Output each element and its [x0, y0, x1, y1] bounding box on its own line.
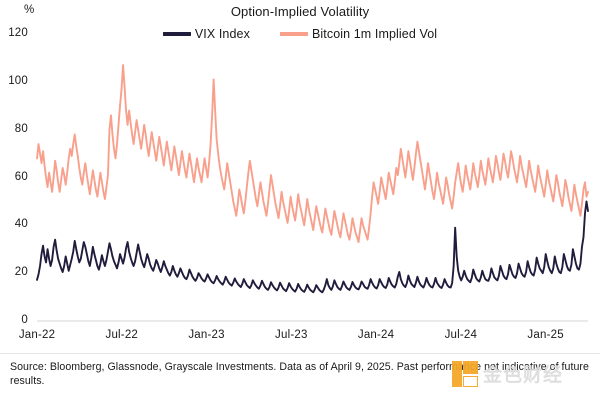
x-tick-label: Jan-23	[188, 329, 224, 341]
y-tick-label: 60	[0, 171, 28, 183]
series-line	[37, 201, 588, 292]
footer-divider	[0, 353, 600, 354]
source-note: Source: Bloomberg, Glassnode, Grayscale …	[10, 360, 590, 389]
series-line	[37, 65, 588, 242]
series-lines	[37, 65, 588, 292]
x-tick-label: Jul-22	[106, 329, 139, 341]
x-tick-label: Jul-23	[275, 329, 308, 341]
y-tick-label: 80	[0, 123, 28, 135]
x-tick-label: Jan-22	[19, 329, 55, 341]
x-tick-label: Jan-24	[358, 329, 394, 341]
x-tick-label: Jul-24	[445, 329, 478, 341]
y-tick-label: 20	[0, 266, 28, 278]
y-tick-label: 120	[0, 27, 28, 39]
volatility-chart: % Option-Implied Volatility VIX Index Bi…	[0, 0, 600, 400]
y-tick-label: 40	[0, 218, 28, 230]
y-tick-label: 0	[0, 314, 28, 326]
y-tick-label: 100	[0, 75, 28, 87]
x-tick-label: Jan-25	[527, 329, 563, 341]
